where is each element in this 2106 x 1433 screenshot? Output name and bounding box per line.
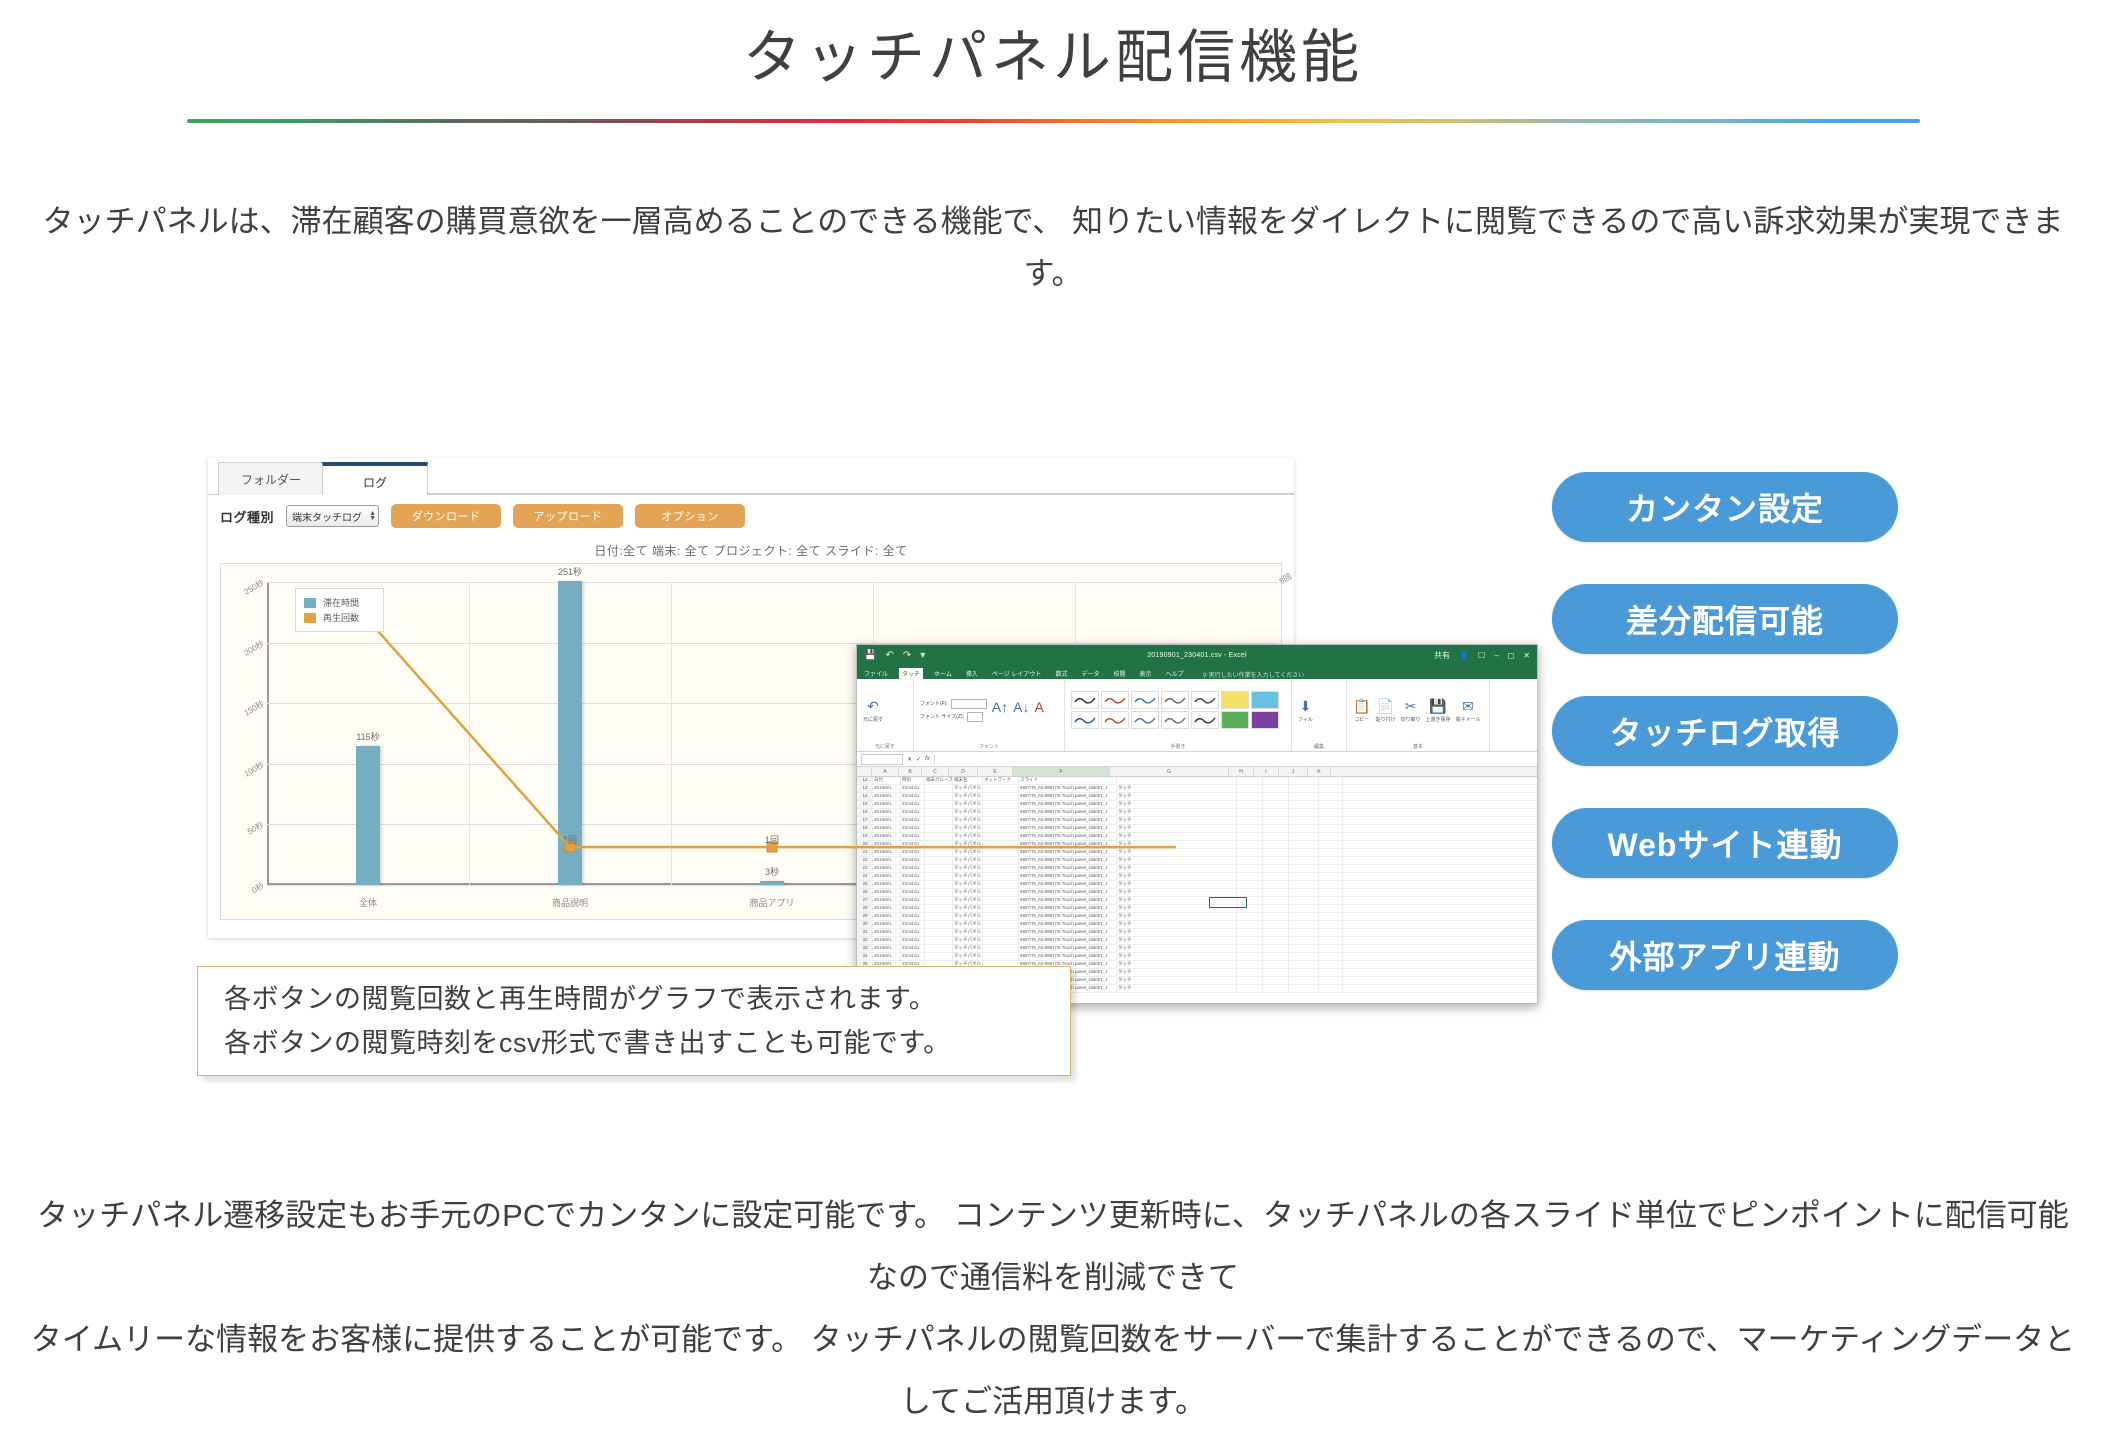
log-chart: 滞在時間 再生回数 0秒50秒100秒150秒200秒250秒0回2回4回6回8… [220, 563, 1282, 920]
excel-cell[interactable] [925, 953, 953, 960]
paste-label: 貼り付け [1375, 716, 1395, 723]
excel-cell[interactable]: タッチ [1117, 921, 1237, 928]
excel-row[interactable]: 292019/9/123:04:01タッチパネル8987iTa_62-8987i… [857, 913, 1537, 921]
excel-cell[interactable] [1263, 889, 1289, 896]
excel-row-header[interactable]: 29 [857, 913, 873, 920]
excel-cell[interactable]: 23:04:01 [901, 889, 925, 896]
excel-cell[interactable] [1289, 873, 1319, 880]
excel-cell[interactable]: 8987iTa_62-8987iTa Touch panel_slide01_1 [1019, 889, 1117, 896]
excel-cell[interactable] [1289, 817, 1319, 824]
legend-label-play-count: 再生回数 [323, 611, 359, 624]
excel-cell[interactable] [1263, 953, 1289, 960]
excel-cell[interactable] [1237, 937, 1263, 944]
stepper-icon[interactable]: ▲▼ [369, 511, 376, 521]
excel-cell[interactable]: 8987iTa_62-8987iTa Touch panel_slide01_1 [1019, 897, 1117, 904]
excel-row[interactable]: 272019/9/123:04:01タッチパネル8987iTa_62-8987i… [857, 897, 1537, 905]
excel-cell[interactable]: 8987iTa_62-8987iTa Touch panel_slide01_1 [1019, 945, 1117, 952]
feature-pill-list: カンタン設定差分配信可能タッチログ取得Webサイト連動外部アプリ連動 [1552, 472, 1898, 990]
excel-cell[interactable] [1289, 897, 1319, 904]
excel-cell[interactable] [1289, 929, 1319, 936]
excel-cell[interactable] [1319, 937, 1343, 944]
excel-cell[interactable] [1319, 817, 1343, 824]
excel-cell[interactable]: タッチ [1117, 953, 1237, 960]
excel-cell[interactable]: タッチ [1117, 985, 1237, 992]
ribbon-group-edit-title: 編集 [1292, 743, 1346, 750]
excel-cell[interactable] [1319, 857, 1343, 864]
close-icon[interactable]: ✕ [1523, 651, 1530, 660]
feature-pill-label: タッチログ取得 [1609, 708, 1840, 754]
excel-cell[interactable] [925, 937, 953, 944]
excel-cell[interactable] [1289, 825, 1319, 832]
excel-cell[interactable]: タッチパネル [953, 937, 983, 944]
excel-cell[interactable] [1319, 809, 1343, 816]
excel-cell[interactable]: 23:04:01 [901, 921, 925, 928]
excel-cell[interactable] [1319, 929, 1343, 936]
excel-cell[interactable] [1237, 929, 1263, 936]
excel-cell[interactable]: 8987iTa_62-8987iTa Touch panel_slide01_1 [1019, 921, 1117, 928]
excel-cell[interactable] [1319, 849, 1343, 856]
excel-cell[interactable]: 8987iTa_62-8987iTa Touch panel_slide01_1 [1019, 905, 1117, 912]
excel-cell[interactable] [1289, 809, 1319, 816]
excel-cell[interactable]: タッチパネル [953, 905, 983, 912]
ribbon-options-icon[interactable]: ☐ [1478, 651, 1485, 660]
excel-cell[interactable]: タッチ [1117, 913, 1237, 920]
filter-summary: 日付:全て 端末: 全て プロジェクト: 全て スライド: 全て [208, 537, 1294, 563]
excel-cell[interactable] [1289, 865, 1319, 872]
excel-cell[interactable]: タッチ [1117, 937, 1237, 944]
excel-cell[interactable]: タッチパネル [953, 953, 983, 960]
log-app-window: フォルダー ログ ログ種別 端末タッチログ ▲▼ ダウンロード アップロード オ… [208, 458, 1294, 938]
excel-cell[interactable] [925, 929, 953, 936]
excel-row[interactable]: 342019/9/123:04:01タッチパネル8987iTa_62-8987i… [857, 953, 1537, 961]
excel-cell[interactable]: 2019/9/1 [873, 953, 901, 960]
excel-cell[interactable] [1263, 985, 1289, 992]
chart-plot-area: 滞在時間 再生回数 0秒50秒100秒150秒200秒250秒0回2回4回6回8… [267, 582, 1277, 885]
excel-cell[interactable] [1263, 977, 1289, 984]
excel-cell[interactable] [1319, 881, 1343, 888]
download-button[interactable]: ダウンロード [391, 504, 501, 528]
callout-box: 各ボタンの閲覧回数と再生時間がグラフで表示されます。 各ボタンの閲覧時刻をcsv… [197, 966, 1071, 1076]
excel-cell[interactable] [1289, 793, 1319, 800]
feature-pill-2[interactable]: 差分配信可能 [1552, 584, 1898, 654]
excel-cell[interactable]: 2019/9/1 [873, 937, 901, 944]
save-big-label: 上書き保存 [1425, 716, 1450, 723]
excel-cell[interactable] [1237, 985, 1263, 992]
excel-cell[interactable]: 23:04:01 [901, 937, 925, 944]
excel-cell[interactable] [1289, 857, 1319, 864]
excel-cell[interactable]: タッチパネル [953, 945, 983, 952]
excel-cell[interactable] [1289, 801, 1319, 808]
excel-cell[interactable] [1263, 969, 1289, 976]
excel-cell[interactable] [1289, 785, 1319, 792]
copy-label: コピー [1354, 716, 1369, 723]
fill-icon[interactable]: ⬇ フィル [1298, 698, 1313, 723]
excel-cell[interactable] [1289, 953, 1319, 960]
excel-row[interactable]: 282019/9/123:04:01タッチパネル8987iTa_62-8987i… [857, 905, 1537, 913]
excel-cell[interactable] [1263, 937, 1289, 944]
excel-cell[interactable]: 8987iTa_62-8987iTa Touch panel_slide01_1 [1019, 953, 1117, 960]
ribbon-group-basic: 📋 コピー 📄 貼り付け ✂ 切り取り 💾 上書き保存 ✉ 電子メール 基本 [1347, 679, 1490, 751]
log-app-tabstrip: フォルダー ログ [208, 458, 1294, 495]
excel-cell[interactable] [983, 889, 1019, 896]
excel-cell[interactable]: タッチ [1117, 945, 1237, 952]
excel-cell[interactable]: 23:04:01 [901, 913, 925, 920]
excel-cell[interactable] [1289, 905, 1319, 912]
feature-pill-1[interactable]: カンタン設定 [1552, 472, 1898, 542]
lead-paragraph: タッチパネルは、滞在顧客の購買意欲を一層高めることのできる機能で、 知りたい情報… [40, 196, 2066, 300]
excel-cell[interactable]: 2019/9/1 [873, 945, 901, 952]
excel-cell[interactable] [925, 913, 953, 920]
ribbon-group-basic-title: 基本 [1347, 743, 1489, 750]
cut-icon[interactable]: ✂ 切り取り [1400, 698, 1420, 723]
excel-cell[interactable] [1319, 833, 1343, 840]
excel-cell[interactable] [1319, 777, 1343, 784]
excel-cell[interactable] [1319, 841, 1343, 848]
excel-cell[interactable] [1289, 889, 1319, 896]
feature-pill-5[interactable]: 外部アプリ連動 [1552, 920, 1898, 990]
excel-cell[interactable]: 2019/9/1 [873, 905, 901, 912]
excel-cell[interactable] [1289, 849, 1319, 856]
excel-cell[interactable]: タッチパネル [953, 897, 983, 904]
excel-row[interactable]: 302019/9/123:04:01タッチパネル8987iTa_62-8987i… [857, 921, 1537, 929]
excel-cell[interactable] [1263, 897, 1289, 904]
callout-line-1: 各ボタンの閲覧回数と再生時間がグラフで表示されます。 [224, 977, 1070, 1021]
excel-cell[interactable]: 23:04:01 [901, 953, 925, 960]
excel-cell[interactable] [1237, 977, 1263, 984]
legend-swatch-orange [304, 613, 316, 623]
excel-cell[interactable]: タッチ [1117, 969, 1237, 976]
callout-line-2: 各ボタンの閲覧時刻をcsv形式で書き出すことも可能です。 [224, 1021, 1070, 1065]
minimize-icon[interactable]: – [1494, 651, 1498, 660]
chart-line-series [368, 620, 1176, 847]
log-type-select[interactable]: 端末タッチログ ▲▼ [286, 505, 379, 527]
excel-cell[interactable] [1237, 945, 1263, 952]
excel-cell[interactable] [925, 889, 953, 896]
email-icon[interactable]: ✉ 電子メール [1455, 698, 1480, 723]
excel-cell[interactable] [983, 913, 1019, 920]
excel-column-header-K[interactable]: K [1308, 767, 1331, 776]
chart-y-tick: 50秒 [246, 820, 266, 838]
legend-swatch-teal [304, 598, 316, 608]
chart-legend: 滞在時間 再生回数 [295, 588, 384, 632]
legend-item-play-count: 再生回数 [304, 611, 359, 624]
excel-row-header[interactable]: 31 [857, 929, 873, 936]
selected-cell[interactable] [1209, 897, 1247, 908]
excel-cell[interactable] [1319, 945, 1343, 952]
excel-cell[interactable] [1319, 953, 1343, 960]
excel-cell[interactable] [1319, 873, 1343, 880]
restore-icon[interactable]: ◻ [1508, 651, 1515, 660]
excel-cell[interactable] [1319, 985, 1343, 992]
excel-cell[interactable] [1263, 961, 1289, 968]
feature-pill-label: Webサイト連動 [1608, 820, 1843, 866]
excel-cell[interactable] [1319, 785, 1343, 792]
excel-cell[interactable] [1319, 897, 1343, 904]
account-icon[interactable]: 👤 [1459, 651, 1469, 660]
chart-y-tick: 150秒 [242, 698, 266, 718]
feature-pill-label: 外部アプリ連動 [1609, 932, 1840, 978]
excel-cell[interactable]: 2019/9/1 [873, 913, 901, 920]
tab-log[interactable]: ログ [322, 462, 428, 498]
excel-cell[interactable] [1237, 889, 1263, 896]
chart-bar-label: 251秒 [558, 565, 582, 578]
outro-line-1: タッチパネル遷移設定もお手元のPCでカンタンに設定可能です。 コンテンツ更新時に… [30, 1185, 2076, 1309]
excel-cell[interactable]: 8987iTa_62-8987iTa Touch panel_slide01_1 [1019, 929, 1117, 936]
excel-cell[interactable] [1289, 969, 1319, 976]
legend-label-stay-time: 滞在時間 [323, 596, 359, 609]
excel-cell[interactable] [1289, 921, 1319, 928]
upload-button[interactable]: アップロード [513, 504, 623, 528]
excel-row[interactable]: 322019/9/123:04:01タッチパネル8987iTa_62-8987i… [857, 937, 1537, 945]
log-app-toolbar: ログ種別 端末タッチログ ▲▼ ダウンロード アップロード オプション [208, 495, 1294, 537]
excel-cell[interactable]: タッチパネル [953, 889, 983, 896]
excel-cell[interactable] [983, 953, 1019, 960]
excel-cell[interactable] [1319, 889, 1343, 896]
cut-label: 切り取り [1400, 716, 1420, 723]
excel-column-header-J[interactable]: J [1279, 767, 1308, 776]
page-title: タッチパネル配信機能 [0, 10, 2106, 94]
excel-cell[interactable]: 23:04:01 [901, 945, 925, 952]
excel-cell[interactable] [1289, 881, 1319, 888]
excel-cell[interactable] [1289, 945, 1319, 952]
excel-cell[interactable]: タッチ [1117, 889, 1237, 896]
excel-cell[interactable] [925, 945, 953, 952]
outro-paragraph: タッチパネル遷移設定もお手元のPCでカンタンに設定可能です。 コンテンツ更新時に… [30, 1185, 2076, 1433]
save-big-icon[interactable]: 💾 上書き保存 [1425, 698, 1450, 723]
excel-cell[interactable]: タッチパネル [953, 921, 983, 928]
excel-cell[interactable] [1319, 969, 1343, 976]
excel-cell[interactable] [1319, 865, 1343, 872]
excel-cell[interactable] [1237, 961, 1263, 968]
excel-row-header[interactable]: 26 [857, 889, 873, 896]
excel-cell[interactable] [1319, 905, 1343, 912]
excel-row-header[interactable]: 32 [857, 937, 873, 944]
excel-cell[interactable] [1319, 961, 1343, 968]
feature-pill-label: 差分配信可能 [1626, 596, 1824, 642]
excel-cell[interactable] [1319, 913, 1343, 920]
chart-y-tick-right: 8回 [1277, 571, 1293, 587]
excel-cell[interactable] [1289, 977, 1319, 984]
excel-cell[interactable]: 23:04:01 [901, 897, 925, 904]
copy-icon[interactable]: 📋 コピー [1353, 698, 1370, 723]
excel-cell[interactable]: 2019/9/1 [873, 929, 901, 936]
excel-cell[interactable] [983, 905, 1019, 912]
feature-pill-3[interactable]: タッチログ取得 [1552, 696, 1898, 766]
excel-cell[interactable] [983, 929, 1019, 936]
chart-y-tick: 0秒 [249, 880, 265, 896]
excel-cell[interactable] [1289, 777, 1319, 784]
excel-cell[interactable]: 2019/9/1 [873, 897, 901, 904]
excel-cell[interactable] [1237, 953, 1263, 960]
excel-cell[interactable] [925, 921, 953, 928]
excel-cell[interactable] [1289, 833, 1319, 840]
excel-window-controls[interactable]: 共有 👤 ☐ – ◻ ✕ [1434, 650, 1530, 661]
excel-cell[interactable] [983, 897, 1019, 904]
excel-cell[interactable]: 23:04:01 [901, 905, 925, 912]
excel-cell[interactable]: タッチパネル [953, 929, 983, 936]
excel-cell[interactable] [983, 937, 1019, 944]
excel-cell[interactable]: タッチパネル [953, 913, 983, 920]
title-gradient-rule [187, 119, 1920, 123]
excel-cell[interactable]: タッチ [1117, 929, 1237, 936]
excel-cell[interactable] [983, 921, 1019, 928]
slide-page: タッチパネル配信機能 タッチパネルは、滞在顧客の購買意欲を一層高めることのできる… [0, 0, 2106, 1426]
excel-cell[interactable] [1289, 985, 1319, 992]
chart-y-tick: 250秒 [242, 577, 266, 597]
excel-cell[interactable] [1263, 921, 1289, 928]
share-label[interactable]: 共有 [1434, 650, 1450, 661]
options-button[interactable]: オプション [635, 504, 745, 528]
excel-row-header[interactable]: 30 [857, 921, 873, 928]
excel-cell[interactable] [1289, 961, 1319, 968]
excel-cell[interactable] [1289, 841, 1319, 848]
chart-line-layer [267, 582, 1277, 885]
email-label: 電子メール [1455, 716, 1480, 723]
excel-cell[interactable] [1319, 977, 1343, 984]
excel-row-header[interactable]: 27 [857, 897, 873, 904]
excel-cell[interactable] [1289, 913, 1319, 920]
excel-cell[interactable]: 23:04:01 [901, 929, 925, 936]
excel-cell[interactable] [1263, 945, 1289, 952]
paste-icon[interactable]: 📄 貼り付け [1375, 698, 1395, 723]
excel-cell[interactable] [1319, 825, 1343, 832]
excel-cell[interactable] [1237, 921, 1263, 928]
log-type-label: ログ種別 [220, 507, 274, 526]
feature-pill-4[interactable]: Webサイト連動 [1552, 808, 1898, 878]
excel-cell[interactable] [983, 945, 1019, 952]
excel-cell[interactable] [1263, 913, 1289, 920]
chart-x-label: 全体 [359, 896, 377, 909]
excel-cell[interactable]: 2019/9/1 [873, 921, 901, 928]
excel-row-header[interactable]: 28 [857, 905, 873, 912]
excel-cell[interactable]: 8987iTa_62-8987iTa Touch panel_slide01_1 [1019, 913, 1117, 920]
excel-cell[interactable] [1319, 793, 1343, 800]
excel-row-header[interactable]: 34 [857, 953, 873, 960]
chart-y-tick: 100秒 [242, 759, 266, 779]
tab-folder[interactable]: フォルダー [218, 462, 324, 495]
excel-cell[interactable] [925, 897, 953, 904]
excel-cell[interactable] [1319, 801, 1343, 808]
excel-cell[interactable] [925, 905, 953, 912]
excel-row-header[interactable]: 33 [857, 945, 873, 952]
excel-cell[interactable] [1289, 937, 1319, 944]
excel-cell[interactable]: タッチ [1117, 961, 1237, 968]
outro-line-2: タイムリーな情報をお客様に提供することが可能です。 タッチパネルの閲覧回数をサー… [30, 1309, 2076, 1433]
excel-row[interactable]: 262019/9/123:04:01タッチパネル8987iTa_62-8987i… [857, 889, 1537, 897]
excel-cell[interactable]: 8987iTa_62-8987iTa Touch panel_slide01_1 [1019, 937, 1117, 944]
tabstrip-divider [426, 493, 1294, 494]
excel-cell[interactable]: 2019/9/1 [873, 889, 901, 896]
excel-row[interactable]: 312019/9/123:04:01タッチパネル8987iTa_62-8987i… [857, 929, 1537, 937]
legend-item-stay-time: 滞在時間 [304, 596, 359, 609]
excel-cell[interactable] [1319, 921, 1343, 928]
ribbon-group-edit: ⬇ フィル 編集 [1292, 679, 1347, 751]
excel-cell[interactable]: タッチ [1117, 977, 1237, 984]
excel-cell[interactable] [1237, 969, 1263, 976]
chart-x-label: 商品アプリ [749, 896, 794, 909]
feature-pill-label: カンタン設定 [1626, 484, 1824, 530]
excel-cell[interactable] [1263, 905, 1289, 912]
fill-label: フィル [1298, 716, 1313, 723]
excel-cell[interactable] [1263, 929, 1289, 936]
chart-x-label: 商品説明 [552, 896, 588, 909]
excel-cell[interactable] [1237, 913, 1263, 920]
chart-y-tick: 200秒 [242, 638, 266, 658]
log-type-select-value: 端末タッチログ [292, 509, 362, 524]
excel-row[interactable]: 332019/9/123:04:01タッチパネル8987iTa_62-8987i… [857, 945, 1537, 953]
